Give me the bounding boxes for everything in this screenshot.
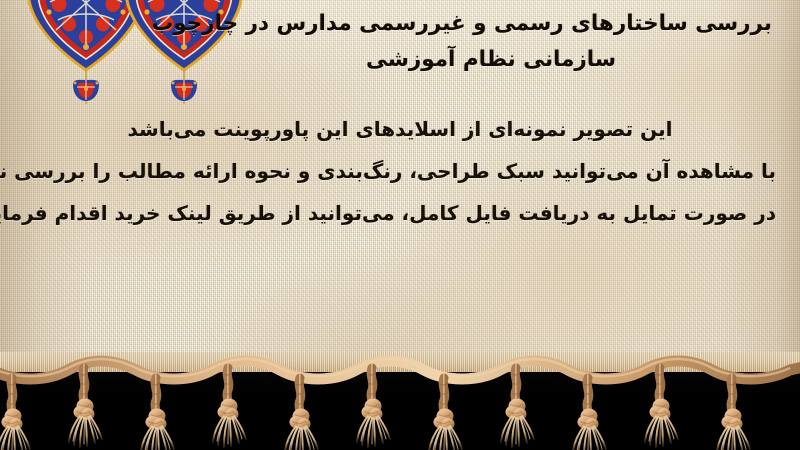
body-line-1: این تصویر نمونه‌ای از اسلایدهای این پاور… <box>24 108 776 150</box>
slide-canvas: بررسی ساختارهای رسمی و غیررسمی مدارس در … <box>0 0 800 450</box>
tassel-row <box>0 368 750 450</box>
slide-title-line-2: سازمانی نظام آموزشی <box>210 42 772 78</box>
body-line-3: در صورت تمایل به دریافت فایل کامل، می‌تو… <box>24 192 776 234</box>
body-line-2: با مشاهده آن می‌توانید سبک طراحی، رنگ‌بن… <box>24 150 776 192</box>
slide-body-text: این تصویر نمونه‌ای از اسلایدهای این پاور… <box>24 108 776 234</box>
slide-title: بررسی ساختارهای رسمی و غیررسمی مدارس در … <box>210 6 772 78</box>
slide-title-line-1: بررسی ساختارهای رسمی و غیررسمی مدارس در … <box>210 6 772 42</box>
carpet-medallion-left <box>28 0 144 104</box>
knotted-tassel-fringe <box>0 352 800 450</box>
